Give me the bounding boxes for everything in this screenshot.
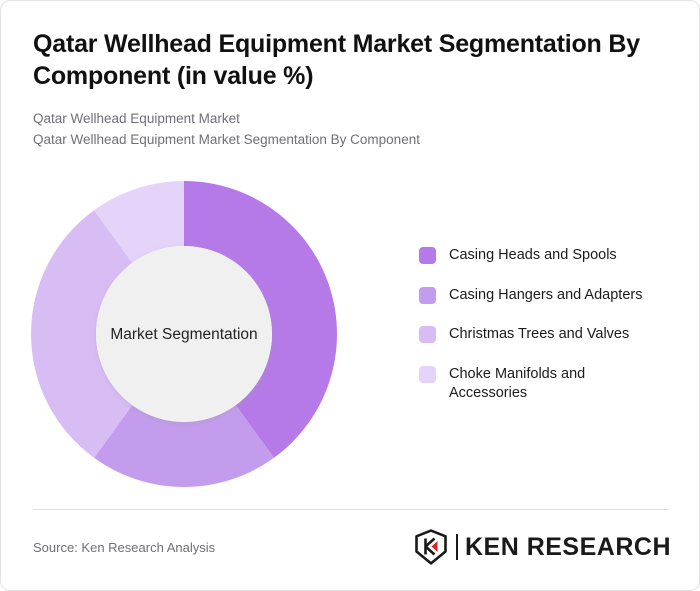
legend-item-choke-manifolds-and-accessories[interactable]: Choke Manifolds and Accessories	[419, 365, 684, 404]
chart-footer: Source: Ken Research Analysis KEN RESEAR…	[1, 509, 700, 591]
donut-chart-svg: Market Segmentation	[21, 171, 351, 501]
legend-item-casing-hangers-and-adapters[interactable]: Casing Hangers and Adapters	[419, 286, 684, 306]
legend-item-christmas-trees-and-valves[interactable]: Christmas Trees and Valves	[419, 325, 684, 345]
donut-center-label: Market Segmentation	[110, 326, 257, 343]
legend-item-casing-heads-and-spools[interactable]: Casing Heads and Spools	[419, 246, 684, 266]
donut-chart: Market Segmentation	[21, 171, 351, 501]
legend-item-label: Casing Hangers and Adapters	[449, 286, 642, 306]
legend-swatch-icon	[419, 287, 436, 304]
source-text: Source: Ken Research Analysis	[33, 540, 215, 555]
legend-swatch-icon	[419, 366, 436, 383]
ken-research-shield-logo-icon	[415, 529, 449, 565]
page-title: Qatar Wellhead Equipment Market Segmenta…	[33, 29, 669, 92]
chart-card: Qatar Wellhead Equipment Market Segmenta…	[0, 0, 700, 591]
legend-swatch-icon	[419, 247, 436, 264]
legend-item-label: Casing Heads and Spools	[449, 246, 617, 266]
brand-name: KEN RESEARCH	[465, 533, 671, 562]
legend-swatch-icon	[419, 326, 436, 343]
plot-area: Market Segmentation Casing Heads and Spo…	[1, 161, 700, 501]
subtitle-secondary: Qatar Wellhead Equipment Market Segmenta…	[33, 130, 669, 151]
brand-divider	[456, 534, 458, 560]
subtitle-primary: Qatar Wellhead Equipment Market	[33, 109, 669, 130]
brand-logo: KEN RESEARCH	[415, 529, 671, 565]
chart-legend: Casing Heads and Spools Casing Hangers a…	[419, 246, 684, 404]
chart-header: Qatar Wellhead Equipment Market Segmenta…	[33, 29, 669, 151]
legend-item-label: Christmas Trees and Valves	[449, 325, 629, 345]
subtitle-block: Qatar Wellhead Equipment Market Qatar We…	[33, 109, 669, 151]
legend-item-label: Choke Manifolds and Accessories	[449, 365, 664, 404]
